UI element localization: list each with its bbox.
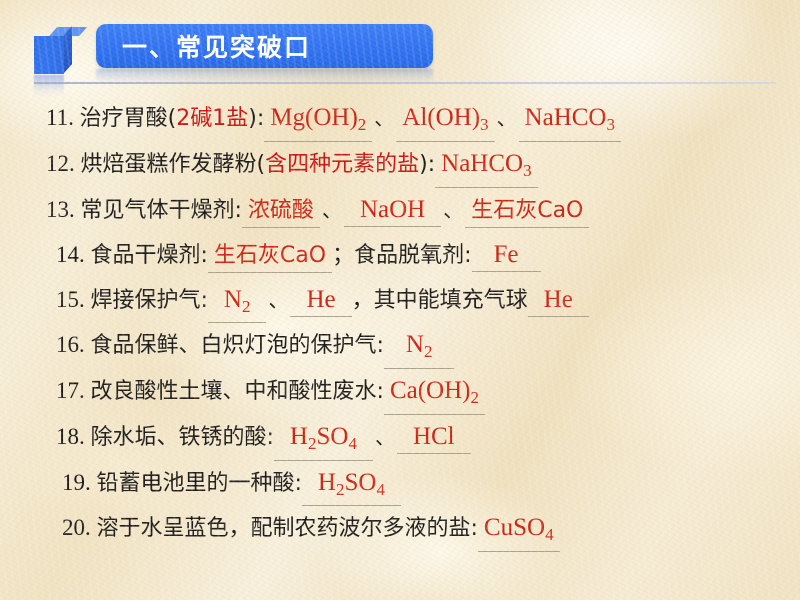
answer-text-2: SO (344, 469, 376, 496)
answer-subscript: 4 (545, 525, 554, 544)
answer-text: NaHCO (441, 150, 523, 177)
item-number: 11. (46, 105, 74, 130)
answer-blank: He (290, 285, 351, 317)
page-title: 一、常见突破口 (96, 28, 311, 64)
list-item: 16. 食品保鲜、白炽灯泡的保护气:N2 (0, 323, 800, 369)
answer-text: N (224, 286, 242, 313)
answer-blank: Fe (472, 240, 541, 272)
item-prompt-cont: ，其中能填充气球 (352, 288, 528, 313)
answer-subscript: 3 (606, 115, 615, 134)
answer-blank: N2 (208, 285, 267, 324)
answer-text: H (318, 469, 336, 496)
item-prompt-cont: ；食品脱氧剂: (332, 243, 471, 268)
answer-blank: NaHCO3 (435, 149, 537, 188)
slide-canvas: 一、常见突破口 11. 治疗胃酸(2碱1盐):Mg(OH)2、Al(OH)3、N… (0, 0, 800, 600)
item-prompt-highlight: 2碱1盐 (176, 106, 248, 131)
item-prompt: 焊接保护气: (91, 288, 208, 313)
item-number: 19. (62, 470, 91, 495)
blue-cube-icon (34, 28, 64, 66)
paren-open: ( (257, 152, 266, 177)
colon: : (257, 106, 264, 131)
answer-blank: 浓硫酸 (242, 196, 320, 228)
item-number: 20. (62, 515, 91, 540)
answer-blank: Mg(OH)2 (264, 103, 372, 142)
separator: 、 (441, 198, 465, 222)
separator: 、 (495, 106, 519, 130)
list-item: 20. 溶于水呈蓝色，配制农药波尔多液的盐:CuSO4 (0, 506, 800, 552)
answer-subscript-2: 4 (376, 479, 385, 498)
item-number: 16. (56, 332, 85, 357)
item-prompt: 铅蓄电池里的一种酸: (97, 471, 302, 496)
answer-text-2: SO (316, 423, 348, 450)
paren-close: ) (248, 106, 257, 131)
list-item: 18. 除水垢、铁锈的酸:H2SO4、HCl (0, 415, 800, 461)
answer-blank: He (528, 285, 589, 317)
answer-blank: NaHCO3 (519, 103, 621, 142)
separator: 、 (373, 425, 397, 449)
slide-header: 一、常见突破口 (0, 0, 800, 88)
cube-side-face (64, 26, 72, 73)
item-number: 12. (46, 151, 75, 176)
answer-subscript: 2 (242, 296, 251, 315)
answer-text: CuSO (484, 514, 545, 541)
list-item: 15. 焊接保护气:N2、He，其中能填充气球He (0, 278, 800, 324)
answer-blank: H2SO4 (274, 422, 373, 461)
answer-blank: NaOH (344, 195, 441, 227)
list-item: 12. 烘焙蛋糕作发酵粉(含四种元素的盐):NaHCO3 (0, 142, 800, 188)
separator: 、 (266, 288, 290, 312)
answer-text: Al(OH) (402, 104, 480, 131)
answer-text: Ca(OH) (390, 377, 471, 404)
separator: 、 (320, 198, 344, 222)
item-prompt-highlight: 含四种元素的盐 (265, 152, 419, 177)
item-prompt: 除水垢、铁锈的酸: (91, 425, 274, 450)
answer-blank: CuSO4 (478, 513, 560, 552)
list-item: 14. 食品干燥剂:生石灰CaO；食品脱氧剂:Fe (0, 233, 800, 278)
paren-close: ) (419, 152, 428, 177)
list-item: 19. 铅蓄电池里的一种酸:H2SO4 (0, 461, 800, 507)
cube-reflection (34, 75, 64, 97)
answer-text: NaHCO (525, 104, 607, 131)
list-item: 11. 治疗胃酸(2碱1盐):Mg(OH)2、Al(OH)3、NaHCO3 (0, 96, 800, 142)
answer-blank: H2SO4 (302, 468, 401, 507)
header-divider (34, 82, 776, 84)
answer-subscript: 3 (480, 115, 489, 134)
answer-blank: Al(OH)3 (396, 103, 494, 142)
answer-blank: Ca(OH)2 (384, 376, 485, 415)
answer-subscript: 2 (470, 388, 479, 407)
answer-subscript-2: 4 (348, 434, 357, 453)
answer-blank: N2 (384, 330, 455, 369)
answer-text: Mg(OH) (270, 104, 358, 131)
answer-subscript: 3 (523, 161, 532, 180)
list-item: 17. 改良酸性土壤、中和酸性废水:Ca(OH)2 (0, 369, 800, 415)
answer-text: H (290, 423, 308, 450)
item-prompt: 食品保鲜、白炽灯泡的保护气: (91, 333, 384, 358)
item-prompt: 烘焙蛋糕作发酵粉 (81, 152, 257, 177)
item-prompt: 常见气体干燥剂: (81, 198, 242, 223)
item-prompt: 溶于水呈蓝色，配制农药波尔多液的盐: (97, 516, 478, 541)
answer-subscript: 2 (358, 115, 367, 134)
answer-blank: 生石灰CaO (208, 241, 332, 273)
item-prompt: 治疗胃酸 (80, 106, 168, 131)
item-number: 18. (56, 424, 85, 449)
answer-blank: 生石灰CaO (465, 196, 589, 228)
item-number: 14. (56, 242, 85, 267)
title-banner: 一、常见突破口 (96, 24, 433, 68)
item-number: 17. (56, 378, 85, 403)
item-prompt: 食品干燥剂: (91, 243, 208, 268)
paren-open: ( (168, 106, 177, 131)
separator: 、 (372, 106, 396, 130)
answer-blank: HCl (397, 422, 471, 454)
item-number: 15. (56, 287, 85, 312)
answer-text: N (406, 331, 424, 358)
item-prompt: 改良酸性土壤、中和酸性废水: (91, 379, 384, 404)
cube-front-face (34, 36, 64, 74)
list-item: 13. 常见气体干燥剂:浓硫酸、NaOH、生石灰CaO (0, 188, 800, 233)
slide-content: 11. 治疗胃酸(2碱1盐):Mg(OH)2、Al(OH)3、NaHCO3 12… (0, 96, 800, 552)
item-number: 13. (46, 197, 75, 222)
answer-subscript: 2 (424, 342, 433, 361)
colon: : (428, 152, 435, 177)
